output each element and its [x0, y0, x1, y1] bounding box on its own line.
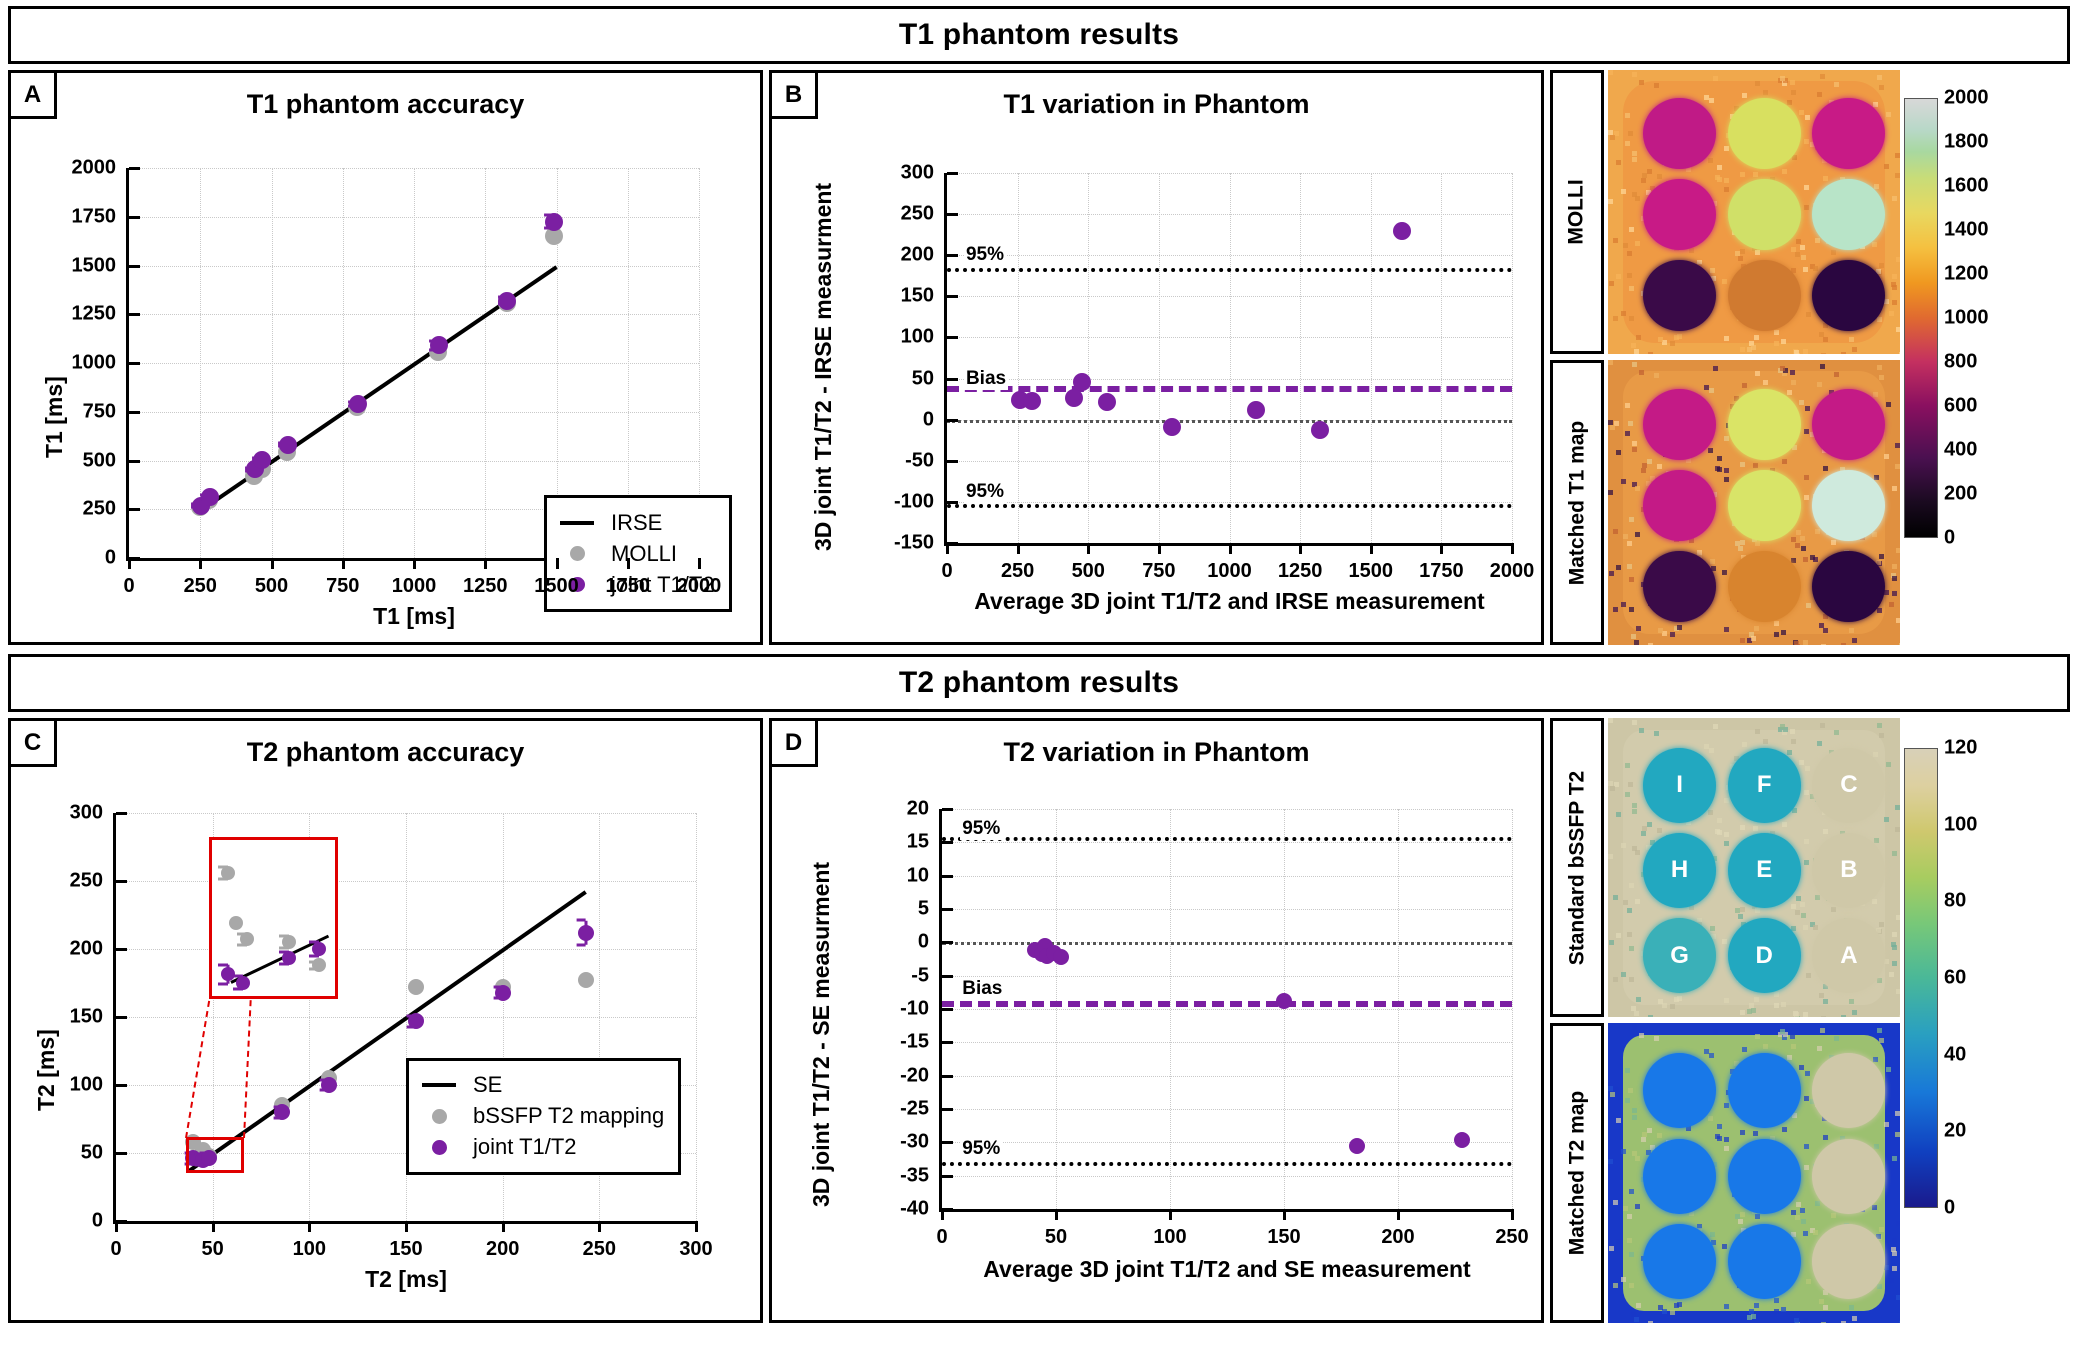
panel-b-x-title: Average 3D joint T1/T2 and IRSE measurem…: [922, 588, 1537, 615]
panel-d-x-axis: [939, 1209, 1512, 1212]
x-tick-label: 200: [1381, 1226, 1414, 1249]
y-tick: [947, 460, 958, 463]
lower-limit-of-agreement-line: [947, 504, 1512, 508]
phantom-vial: [1728, 179, 1801, 250]
phantom-vial: [1728, 1139, 1801, 1214]
y-tick: [116, 1084, 127, 1087]
data-point: [1053, 949, 1069, 965]
legend-row: joint T1/T2: [419, 1132, 664, 1163]
gridline-horizontal: [116, 881, 696, 882]
y-tick-label: -5: [867, 964, 929, 987]
upper-limit-of-agreement-line: [942, 837, 1512, 841]
data-point: [274, 1104, 290, 1120]
data-point: [1349, 1138, 1365, 1154]
x-tick: [556, 558, 559, 569]
x-tick-label: 300: [679, 1238, 712, 1261]
colorbar-tick-label: 20: [1944, 1120, 1966, 1143]
y-tick: [129, 265, 140, 268]
legend-dot-marker: [570, 546, 585, 561]
x-tick-label: 1000: [392, 575, 437, 598]
data-point: [1454, 1132, 1470, 1148]
gridline-vertical: [1371, 173, 1372, 543]
y-tick-label: 2000: [54, 157, 116, 180]
gridline-horizontal: [942, 909, 1512, 910]
x-tick: [627, 558, 630, 569]
gridline-horizontal: [947, 173, 1512, 174]
gridline-horizontal: [942, 809, 1512, 810]
colorbar-tick-label: 80: [1944, 890, 1966, 913]
data-point: [1023, 392, 1041, 410]
x-tick-label: 250: [1001, 560, 1034, 583]
panel-c-letter: C: [11, 721, 57, 767]
x-tick-label: 1500: [534, 575, 579, 598]
legend-key: [557, 521, 597, 525]
phantom-vial: [1643, 179, 1716, 250]
bssfp-phantom-image: IFCHEBGDA: [1608, 718, 1900, 1017]
colorbar-tick-label: 0: [1944, 1197, 1955, 1220]
x-tick: [1017, 543, 1020, 554]
inset-data-point: [229, 916, 243, 930]
panel-d-plot-area: 95%Bias95%: [942, 809, 1512, 1209]
chart-b: 95%Bias95% Average 3D joint T1/T2 and IR…: [772, 73, 1541, 642]
t1-image-column: MOLLI Matched T1 map 2000180016001400120…: [1550, 70, 2060, 645]
colorbar-tick-label: 1800: [1944, 131, 1989, 154]
limit-of-agreement-annotation: 95%: [964, 481, 1006, 503]
y-tick: [942, 841, 953, 844]
zero-reference-line: [947, 420, 1512, 423]
y-tick: [129, 460, 140, 463]
banner-t1-results: T1 phantom results: [8, 6, 2070, 64]
phantom-vial: [1728, 1224, 1801, 1299]
molli-label-box: MOLLI: [1550, 70, 1604, 354]
panel-d: D T2 variation in Phantom 95%Bias95% Ave…: [769, 718, 1544, 1323]
y-tick-label: 1250: [54, 303, 116, 326]
gridline-horizontal: [942, 1042, 1512, 1043]
inset-connector: [243, 1000, 252, 1137]
y-tick-label: 150: [41, 1006, 103, 1029]
x-tick-label: 750: [1142, 560, 1175, 583]
legend-line-marker: [422, 1083, 456, 1087]
data-point: [578, 925, 594, 941]
y-tick: [129, 362, 140, 365]
data-point: [1393, 222, 1411, 240]
phantom-vial: [1728, 551, 1801, 622]
lower-limit-of-agreement-line: [942, 1162, 1512, 1166]
gridline-horizontal: [129, 266, 699, 267]
legend-dot-marker: [432, 1140, 447, 1155]
panel-c-x-title: T2 [ms]: [116, 1266, 696, 1293]
y-tick-label: -50: [872, 449, 934, 472]
gridline-horizontal: [942, 1142, 1512, 1143]
t1-colorbar: [1904, 98, 1938, 538]
x-tick-label: 50: [202, 1238, 224, 1261]
data-point: [279, 436, 297, 454]
gridline-vertical: [696, 813, 697, 1221]
y-tick-label: 250: [54, 498, 116, 521]
phantom-vial-label: B: [1840, 856, 1857, 884]
colorbar-tick-label: 2000: [1944, 87, 1989, 110]
x-tick-label: 0: [941, 560, 952, 583]
x-tick-label: 0: [110, 1238, 121, 1261]
panel-a-letter: A: [11, 73, 57, 119]
legend-row: IRSE: [557, 507, 715, 538]
y-tick-label: 1000: [54, 352, 116, 375]
data-point: [495, 985, 511, 1001]
colorbar-tick-label: 60: [1944, 967, 1966, 990]
y-tick: [947, 378, 958, 381]
x-tick-label: 1750: [606, 575, 651, 598]
y-tick-label: 0: [867, 931, 929, 954]
x-tick-label: 100: [293, 1238, 326, 1261]
colorbar-tick-label: 40: [1944, 1043, 1966, 1066]
x-tick-label: 200: [486, 1238, 519, 1261]
phantom-vial: [1812, 551, 1885, 622]
bias-annotation: Bias: [964, 368, 1008, 390]
x-tick: [598, 1221, 601, 1232]
x-tick-label: 150: [389, 1238, 422, 1261]
panel-c: C T2 phantom accuracy T2 [ms] T2 [ms] SE…: [8, 718, 763, 1323]
bias-annotation: Bias: [960, 978, 1004, 1000]
limit-of-agreement-annotation: 95%: [960, 1138, 1002, 1160]
x-tick: [1397, 1209, 1400, 1220]
x-tick: [695, 1221, 698, 1232]
data-point: [349, 395, 367, 413]
x-tick: [1158, 543, 1161, 554]
inset-source-box: [186, 1137, 244, 1174]
legend-key: [419, 1083, 459, 1087]
inset-data-point: [282, 951, 296, 965]
y-tick-label: 0: [41, 1210, 103, 1233]
phantom-vial-label: E: [1756, 856, 1772, 884]
x-tick-label: 250: [1495, 1226, 1528, 1249]
banner-t2-title: T2 phantom results: [899, 666, 1179, 700]
y-tick: [947, 336, 958, 339]
gridline-horizontal: [129, 412, 699, 413]
y-tick: [942, 908, 953, 911]
y-tick: [947, 172, 958, 175]
legend-label: IRSE: [611, 510, 662, 536]
x-tick: [413, 558, 416, 569]
y-tick-label: 0: [54, 547, 116, 570]
colorbar-tick-label: 1200: [1944, 263, 1989, 286]
data-point: [201, 488, 219, 506]
gridline-horizontal: [116, 949, 696, 950]
y-tick: [947, 501, 958, 504]
x-tick: [1283, 1209, 1286, 1220]
y-tick-label: 1750: [54, 205, 116, 228]
t2-colorbar-ticks: 120100806040200: [1944, 748, 2014, 1208]
matched-t2-label-box: Matched T2 map: [1550, 1023, 1604, 1323]
x-tick-label: 100: [1153, 1226, 1186, 1249]
colorbar-tick-label: 600: [1944, 395, 1977, 418]
y-tick: [116, 1220, 127, 1223]
y-tick: [129, 167, 140, 170]
x-tick: [484, 558, 487, 569]
x-tick-label: 1250: [463, 575, 508, 598]
y-tick: [116, 880, 127, 883]
data-point: [545, 213, 563, 231]
legend-line-marker: [560, 521, 594, 525]
x-tick-label: 750: [326, 575, 359, 598]
matched-t2-image-row: Matched T2 map: [1550, 1023, 1900, 1323]
phantom-vial: [1728, 260, 1801, 331]
gridline-vertical: [1512, 809, 1513, 1209]
gridline-horizontal: [947, 296, 1512, 297]
y-tick: [129, 216, 140, 219]
x-tick-label: 0: [936, 1226, 947, 1249]
panel-b-y-title: 3D joint T1/T2 - IRSE measurment: [810, 183, 837, 551]
gridline-horizontal: [942, 1076, 1512, 1077]
matched-t2-label: Matched T2 map: [1565, 1091, 1589, 1256]
legend-dot-marker: [432, 1109, 447, 1124]
gridline-horizontal: [947, 255, 1512, 256]
molli-phantom-image: [1608, 70, 1900, 354]
t2-colorbar-group: 120100806040200: [1904, 718, 2060, 1323]
legend-key: [419, 1140, 459, 1155]
y-tick: [947, 213, 958, 216]
chart-c: T2 [ms] T2 [ms] SEbSSFP T2 mappingjoint …: [11, 721, 760, 1320]
x-tick: [199, 558, 202, 569]
data-point: [1276, 993, 1292, 1009]
x-tick-label: 500: [255, 575, 288, 598]
panel-b-y-axis: [944, 173, 947, 546]
gridline-horizontal: [947, 502, 1512, 503]
phantom-vial: [1812, 1224, 1885, 1299]
phantom-vial: [1643, 470, 1716, 541]
y-tick: [942, 975, 953, 978]
gridline-horizontal: [947, 379, 1512, 380]
y-tick-label: 300: [41, 802, 103, 825]
x-tick-label: 1000: [1207, 560, 1252, 583]
phantom-vial-label: D: [1756, 942, 1773, 970]
gridline-horizontal: [116, 813, 696, 814]
bssfp-label: Standard bSSFP T2: [1565, 770, 1589, 965]
matched-t1-label-box: Matched T1 map: [1550, 360, 1604, 645]
panel-c-legend: SEbSSFP T2 mappingjoint T1/T2: [406, 1058, 681, 1175]
section-t1: A T1 phantom accuracy T1 [ms] T1 [ms] IR…: [8, 70, 2070, 645]
x-tick-label: 1250: [1278, 560, 1323, 583]
gridline-horizontal: [947, 461, 1512, 462]
y-tick: [942, 1208, 953, 1211]
y-tick: [942, 1041, 953, 1044]
colorbar-tick-label: 1000: [1944, 307, 1989, 330]
bssfp-label-box: Standard bSSFP T2: [1550, 718, 1604, 1017]
y-tick-label: 500: [54, 449, 116, 472]
x-tick: [1299, 543, 1302, 554]
y-tick-label: -150: [872, 532, 934, 555]
error-bar-cap: [577, 943, 586, 946]
legend-label: joint T1/T2: [473, 1134, 577, 1160]
phantom-vial: [1643, 1139, 1716, 1214]
phantom-vial-label: F: [1757, 771, 1772, 799]
y-tick: [942, 808, 953, 811]
x-tick-label: 250: [583, 1238, 616, 1261]
y-tick-label: 1500: [54, 254, 116, 277]
panel-a: A T1 phantom accuracy T1 [ms] T1 [ms] IR…: [8, 70, 763, 645]
legend-row: MOLLI: [557, 538, 715, 569]
data-point: [408, 979, 424, 995]
y-tick: [129, 508, 140, 511]
inset-data-point: [282, 935, 296, 949]
y-tick-label: -15: [867, 1031, 929, 1054]
colorbar-tick-label: 120: [1944, 737, 1977, 760]
phantom-vial: [1728, 1053, 1801, 1128]
y-tick-label: 750: [54, 400, 116, 423]
y-tick: [116, 1016, 127, 1019]
y-tick-label: -100: [872, 490, 934, 513]
matched-t1-image-row: Matched T1 map: [1550, 360, 1900, 645]
phantom-vial: [1643, 98, 1716, 169]
phantom-vial: [1643, 260, 1716, 331]
gridline-horizontal: [942, 976, 1512, 977]
phantom-vial: [1728, 98, 1801, 169]
y-tick-label: 250: [872, 203, 934, 226]
y-tick: [947, 542, 958, 545]
data-point: [1098, 393, 1116, 411]
y-tick-label: 150: [872, 285, 934, 308]
phantom-vial: [1643, 1053, 1716, 1128]
phantom-vial: [1643, 1224, 1716, 1299]
chart-a: T1 [ms] T1 [ms] IRSEMOLLIjoint T1/T2 025…: [11, 73, 760, 642]
upper-limit-of-agreement-line: [947, 268, 1512, 272]
colorbar-tick-label: 400: [1944, 439, 1977, 462]
limit-of-agreement-annotation: 95%: [960, 818, 1002, 840]
gridline-horizontal: [942, 876, 1512, 877]
y-tick-label: -35: [867, 1164, 929, 1187]
y-tick-label: 100: [41, 1074, 103, 1097]
data-point: [1247, 401, 1265, 419]
y-tick: [942, 941, 953, 944]
chart-d: 95%Bias95% Average 3D joint T1/T2 and SE…: [772, 721, 1541, 1320]
phantom-vial: [1643, 551, 1716, 622]
x-tick-label: 0: [123, 575, 134, 598]
matched-t1-label: Matched T1 map: [1565, 420, 1589, 585]
y-tick: [942, 1175, 953, 1178]
phantom-vial-label: G: [1670, 942, 1689, 970]
phantom-vial: [1728, 470, 1801, 541]
colorbar-tick-label: 1600: [1944, 175, 1989, 198]
gridline-vertical: [1441, 173, 1442, 543]
panel-d-x-title: Average 3D joint T1/T2 and SE measuremen…: [917, 1256, 1537, 1283]
y-tick-label: 5: [867, 898, 929, 921]
gridline-vertical: [1018, 173, 1019, 543]
legend-key: [557, 546, 597, 561]
x-tick-label: 150: [1267, 1226, 1300, 1249]
x-tick: [1087, 543, 1090, 554]
gridline-vertical: [1230, 173, 1231, 543]
gridline-vertical: [1159, 173, 1160, 543]
phantom-vial: [1812, 1053, 1885, 1128]
inset-data-point: [240, 932, 254, 946]
inset-error-bar-cap: [218, 964, 228, 967]
gridline-vertical: [1512, 173, 1513, 543]
x-tick: [212, 1221, 215, 1232]
t1-colorbar-group: 2000180016001400120010008006004002000: [1904, 70, 2060, 645]
x-tick: [502, 1221, 505, 1232]
x-tick-label: 1750: [1419, 560, 1464, 583]
x-tick-label: 2000: [1490, 560, 1535, 583]
data-point: [1073, 373, 1091, 391]
gridline-horizontal: [942, 842, 1512, 843]
data-point: [578, 972, 594, 988]
colorbar-tick-label: 1400: [1944, 219, 1989, 242]
y-tick-label: 200: [872, 244, 934, 267]
phantom-vial-label: H: [1671, 856, 1688, 884]
section-t2: C T2 phantom accuracy T2 [ms] T2 [ms] SE…: [8, 718, 2070, 1323]
legend-key: [419, 1109, 459, 1124]
y-tick-label: -20: [867, 1064, 929, 1087]
matched-t1-phantom-image: [1608, 360, 1900, 645]
y-tick-label: 20: [867, 798, 929, 821]
x-tick: [1055, 1209, 1058, 1220]
inset-zoom-panel: [209, 837, 339, 999]
x-tick: [1169, 1209, 1172, 1220]
phantom-vial: [1728, 389, 1801, 460]
phantom-vial-label: A: [1840, 942, 1857, 970]
y-tick: [116, 812, 127, 815]
x-tick: [1229, 543, 1232, 554]
y-tick-label: 50: [41, 1142, 103, 1165]
colorbar-tick-label: 800: [1944, 351, 1977, 374]
inset-connector: [185, 1000, 210, 1138]
gridline-vertical: [1300, 173, 1301, 543]
y-tick-label: 200: [41, 938, 103, 961]
matched-t2-phantom-image: [1608, 1023, 1900, 1323]
data-point: [321, 1077, 337, 1093]
y-tick-label: 100: [872, 326, 934, 349]
y-tick-label: -10: [867, 998, 929, 1021]
y-tick: [947, 419, 958, 422]
bias-line: [942, 1001, 1512, 1007]
t2-colorbar: [1904, 748, 1938, 1208]
x-tick: [271, 558, 274, 569]
x-tick-label: 500: [1072, 560, 1105, 583]
colorbar-tick-label: 200: [1944, 483, 1977, 506]
colorbar-tick-label: 0: [1944, 527, 1955, 550]
phantom-vial: [1643, 389, 1716, 460]
gridline-vertical: [1088, 173, 1089, 543]
x-tick: [1511, 543, 1514, 554]
y-tick: [129, 557, 140, 560]
zero-reference-line: [942, 942, 1512, 945]
inset-data-point: [221, 866, 235, 880]
panel-d-y-title: 3D joint T1/T2 - SE measurment: [808, 862, 835, 1207]
x-tick: [1370, 543, 1373, 554]
y-tick-label: 50: [872, 367, 934, 390]
gridline-horizontal: [942, 1109, 1512, 1110]
y-tick-label: -40: [867, 1198, 929, 1221]
y-tick: [129, 411, 140, 414]
x-tick: [308, 1221, 311, 1232]
phantom-vial-label: C: [1840, 771, 1857, 799]
x-tick-label: 250: [184, 575, 217, 598]
y-tick-label: 0: [872, 408, 934, 431]
phantom-vial-label: I: [1676, 771, 1683, 799]
x-tick-label: 2000: [677, 575, 722, 598]
x-tick: [698, 558, 701, 569]
colorbar-tick-label: 100: [1944, 813, 1977, 836]
y-tick-label: 15: [867, 831, 929, 854]
y-tick: [947, 254, 958, 257]
x-tick-label: 50: [1045, 1226, 1067, 1249]
data-point: [1311, 421, 1329, 439]
inset-data-point: [312, 958, 326, 972]
error-bar-cap: [577, 919, 586, 922]
panel-b-letter: B: [772, 73, 818, 119]
data-point: [408, 1013, 424, 1029]
inset-data-point: [236, 976, 250, 990]
bssfp-image-row: Standard bSSFP T2 IFCHEBGDA: [1550, 718, 1900, 1017]
